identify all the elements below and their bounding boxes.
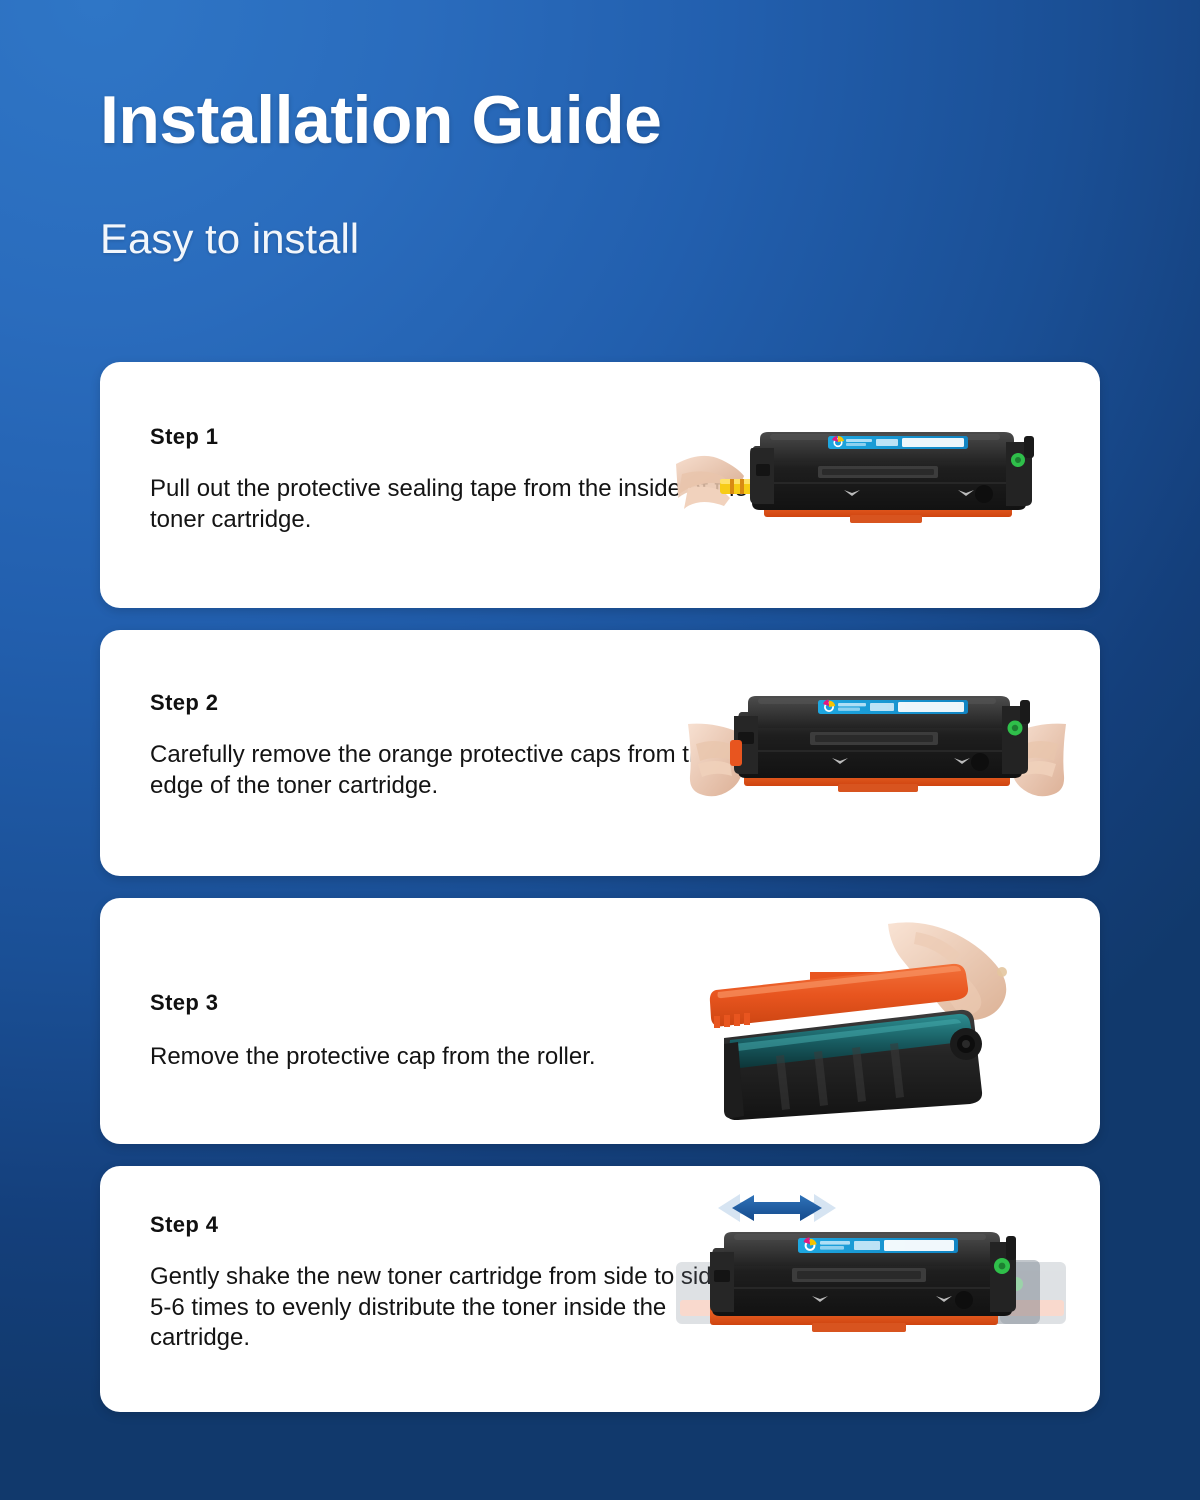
step-description: Remove the protective cap from the rolle… [150,1042,750,1073]
step-text-block: Step 1 Pull out the protective sealing t… [150,424,750,535]
cartridge-two-hands-removing-caps-icon [672,672,1082,812]
step-illustration [680,898,1100,1144]
step-description: Pull out the protective sealing tape fro… [150,474,750,535]
step-label: Step 1 [150,424,750,450]
step-description: Gently shake the new toner cartridge fro… [150,1262,750,1354]
double-arrow-icon [718,1194,836,1222]
step-illustration [680,362,1100,608]
step-description: Carefully remove the orange protective c… [150,740,750,801]
step-illustration [680,630,1100,876]
step-text-block: Step 2 Carefully remove the orange prote… [150,690,750,801]
step-label: Step 3 [150,990,750,1016]
installation-guide-page: Installation Guide Easy to install Step … [0,0,1200,1500]
hand-lifting-roller-cover-icon [702,920,1052,1120]
cartridge-label [828,436,968,449]
page-subtitle: Easy to install [100,218,1100,260]
steps-list: Step 1 Pull out the protective sealing t… [100,362,1100,1434]
step-text-block: Step 4 Gently shake the new toner cartri… [150,1212,750,1354]
step-card: Step 1 Pull out the protective sealing t… [100,362,1100,608]
step-card: Step 2 Carefully remove the orange prote… [100,630,1100,876]
step-text-block: Step 3 Remove the protective cap from th… [150,990,750,1073]
cartridge-shake-side-to-side-icon [670,1188,1070,1358]
step-card: Step 4 Gently shake the new toner cartri… [100,1166,1100,1412]
step-label: Step 2 [150,690,750,716]
cartridge-label [818,700,968,714]
step-illustration [680,1166,1100,1412]
page-header: Installation Guide Easy to install [100,86,1100,260]
step-card: Step 3 Remove the protective cap from th… [100,898,1100,1144]
step-label: Step 4 [150,1212,750,1238]
cartridge-label [798,1237,958,1253]
cartridge-body [724,1010,982,1120]
page-title: Installation Guide [100,86,1100,154]
cartridge-with-sealing-tape-icon [668,412,1068,542]
